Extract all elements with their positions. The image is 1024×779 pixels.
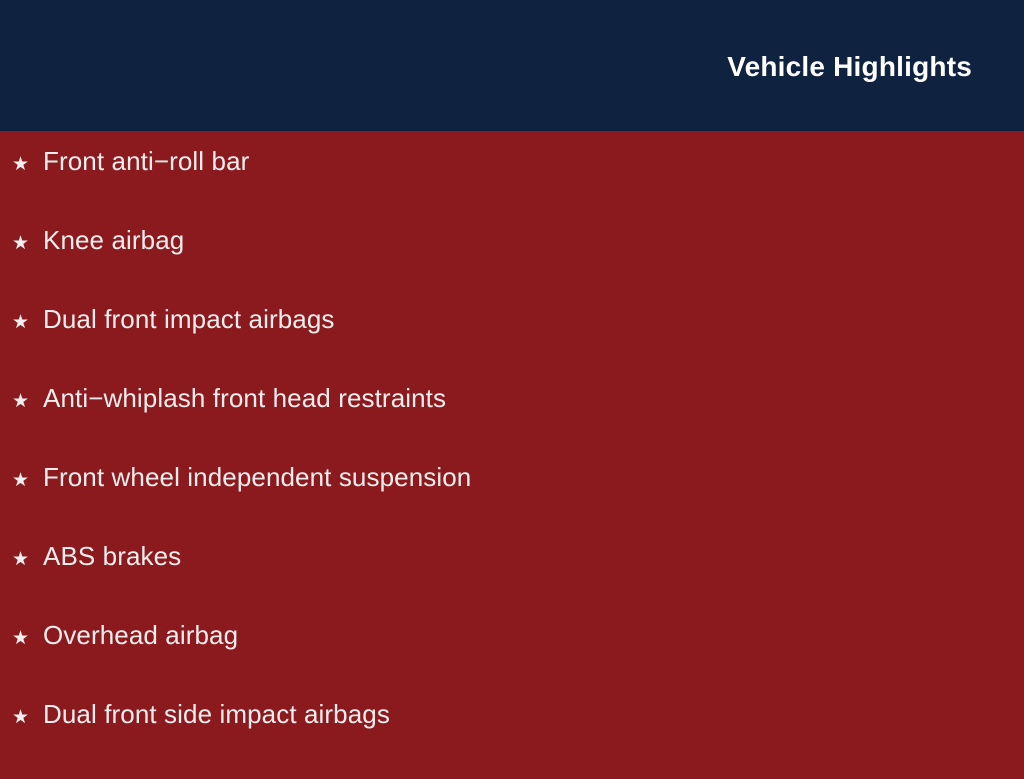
list-item: ★ Dual front impact airbags [0, 305, 1024, 384]
list-item-label: Anti−whiplash front head restraints [43, 384, 446, 414]
star-bullet-icon: ★ [12, 234, 43, 253]
list-item-label: Knee airbag [43, 226, 184, 256]
list-item: ★ Overhead airbag [0, 621, 1024, 700]
list-item-label: Dual front side impact airbags [43, 700, 390, 730]
star-bullet-icon: ★ [12, 392, 43, 411]
list-item: ★ Front anti−roll bar [0, 147, 1024, 226]
list-item-label: Dual front impact airbags [43, 305, 335, 335]
list-item: ★ Knee airbag [0, 226, 1024, 305]
vehicle-highlights-list: ★ Front anti−roll bar ★ Knee airbag ★ Du… [0, 131, 1024, 779]
list-item: ★ Dual front side impact airbags [0, 700, 1024, 779]
star-bullet-icon: ★ [12, 155, 43, 174]
list-item-label: Front anti−roll bar [43, 147, 249, 177]
slide-body: ★ Front anti−roll bar ★ Knee airbag ★ Du… [0, 131, 1024, 779]
star-bullet-icon: ★ [12, 471, 43, 490]
page-title: Vehicle Highlights [727, 48, 972, 83]
list-item: ★ ABS brakes [0, 542, 1024, 621]
slide-header: Vehicle Highlights [0, 0, 1024, 131]
list-item: ★ Anti−whiplash front head restraints [0, 384, 1024, 463]
star-bullet-icon: ★ [12, 313, 43, 332]
list-item-label: ABS brakes [43, 542, 181, 572]
star-bullet-icon: ★ [12, 708, 43, 727]
presentation-slide: Vehicle Highlights ★ Front anti−roll bar… [0, 0, 1024, 768]
list-item-label: Front wheel independent suspension [43, 463, 471, 493]
star-bullet-icon: ★ [12, 550, 43, 569]
list-item-label: Overhead airbag [43, 621, 238, 651]
list-item: ★ Front wheel independent suspension [0, 463, 1024, 542]
star-bullet-icon: ★ [12, 629, 43, 648]
